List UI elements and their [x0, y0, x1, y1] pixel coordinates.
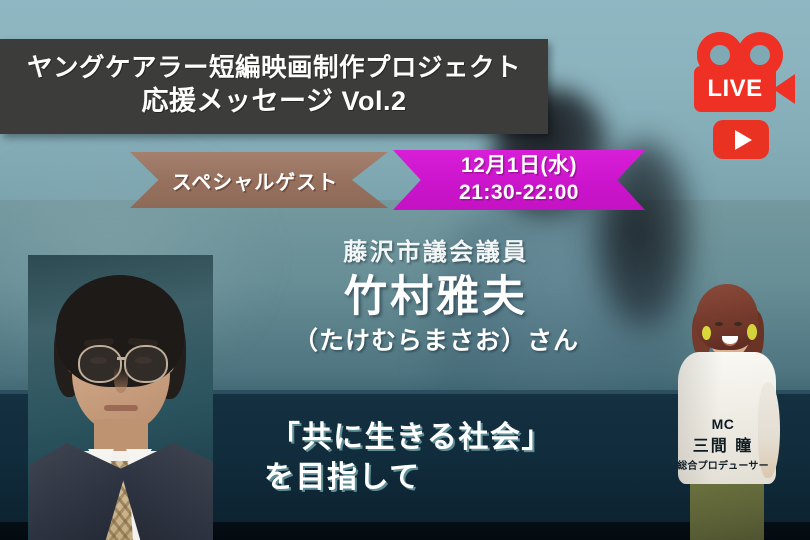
portrait-nose — [114, 367, 128, 393]
camera-lens-icon — [773, 74, 795, 104]
guest-info-block: 藤沢市議会議員 竹村雅夫 （たけむらまさお）さん — [236, 238, 636, 358]
portrait-glasses-right — [124, 345, 168, 383]
play-triangle-icon — [735, 130, 752, 150]
mc-earring-right — [747, 324, 757, 340]
title-line-2: 応援メッセージ Vol.2 — [142, 84, 407, 119]
mc-eye-right — [734, 322, 742, 326]
camera-body-icon: LIVE — [694, 66, 776, 112]
youtube-play-icon[interactable] — [713, 120, 769, 159]
portrait-mouth — [104, 405, 138, 411]
special-guest-label: スペシャルゲスト — [172, 166, 339, 195]
live-camera-icon: LIVE — [693, 32, 797, 112]
broadcast-date: 12月1日(水) — [461, 153, 577, 180]
portrait-glasses-bridge — [117, 357, 126, 360]
guest-portrait-photo — [28, 255, 213, 540]
quote-line-2: を目指して — [264, 458, 610, 498]
mc-portrait-photo — [666, 272, 786, 540]
mc-eye-left — [715, 322, 723, 326]
title-line-1: ヤングケアラー短編映画制作プロジェクト — [27, 54, 521, 83]
guest-name: 竹村雅夫 — [236, 271, 636, 323]
live-label: LIVE — [707, 77, 762, 101]
special-guest-ribbon: スペシャルゲスト — [130, 152, 388, 208]
mc-arm — [758, 382, 780, 478]
mc-earring-left — [702, 326, 711, 340]
guest-name-reading: （たけむらまさお）さん — [236, 325, 636, 358]
guest-job-title: 藤沢市議会議員 — [236, 238, 636, 268]
title-banner: ヤングケアラー短編映画制作プロジェクト 応援メッセージ Vol.2 — [0, 39, 548, 134]
livestream-promo-poster: ヤングケアラー短編映画制作プロジェクト 応援メッセージ Vol.2 スペシャルゲ… — [0, 0, 810, 540]
quote-line-1: 「共に生きる社会」 — [270, 418, 610, 458]
broadcast-datetime-ribbon: 12月1日(水) 21:30-22:00 — [393, 150, 645, 210]
broadcast-time: 21:30-22:00 — [459, 180, 579, 207]
quote-block: 「共に生きる社会」 を目指して — [270, 418, 610, 497]
